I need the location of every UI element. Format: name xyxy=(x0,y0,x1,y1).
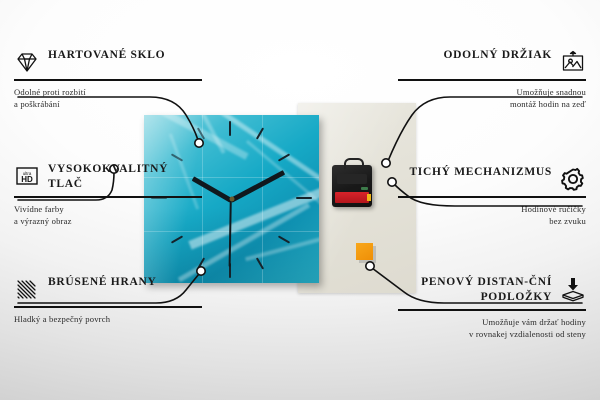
svg-text:HD: HD xyxy=(21,175,33,184)
feature-high-quality-print: ultra HD VYSOKOKVALITNÝ TLAČ Vivídne far… xyxy=(14,162,202,228)
clock-hand-hub xyxy=(229,197,234,202)
feature-description: Odolné proti rozbití a poškrábání xyxy=(14,86,202,111)
feature-description: Umožňuje snadnou montáž hodin na zeď xyxy=(398,86,586,111)
diamond-icon xyxy=(14,49,40,75)
clock-tick xyxy=(296,197,312,199)
feature-polished-edges: BRÚSENÉ HRANY Hladký a bezpečný povrch xyxy=(14,275,202,325)
feature-description: Vivídne farby a výrazný obraz xyxy=(14,203,202,228)
feature-title: VYSOKOKVALITNÝ TLAČ xyxy=(48,162,202,192)
brushed-edge-icon xyxy=(14,276,40,302)
battery xyxy=(335,192,369,203)
feature-title: TICHÝ MECHANIZMUS xyxy=(409,165,552,180)
clock-mechanism xyxy=(332,165,372,207)
panel-seam xyxy=(144,231,319,232)
mechanism-dial xyxy=(361,187,368,190)
feature-description: Hladký a bezpečný povrch xyxy=(14,313,202,325)
panel-seam xyxy=(262,115,263,283)
feature-divider xyxy=(14,79,202,81)
feature-description: Umožňuje vám držať hodiny v rovnakej vzd… xyxy=(398,316,586,341)
foam-spacer-pad xyxy=(356,243,373,260)
feature-description: Hodinové ručičky bez zvuku xyxy=(398,203,586,228)
feature-foam-spacers: PENOVÝ DISTAN-ČNÍ PODLOŽKY Umožňuje vám … xyxy=(398,275,586,341)
feature-durable-hanger: ODOLNÝ DRŽIAK Umožňuje snadnou montáž ho… xyxy=(398,48,586,111)
ultra-hd-icon: ultra HD xyxy=(14,163,40,189)
picture-hanger-icon xyxy=(560,49,586,75)
mechanism-hanger xyxy=(344,158,364,169)
feature-title: HARTOVANÉ SKLO xyxy=(48,48,165,63)
feature-divider xyxy=(398,309,586,311)
feature-divider xyxy=(14,196,202,198)
foam-pad-icon xyxy=(560,276,586,302)
feature-silent-mechanism: TICHÝ MECHANIZMUS Hodinové ručičky bez z… xyxy=(398,165,586,228)
clock-tick xyxy=(229,121,231,136)
feature-title: BRÚSENÉ HRANY xyxy=(48,275,156,290)
gear-icon xyxy=(560,166,586,192)
feature-title: PENOVÝ DISTAN-ČNÍ PODLOŽKY xyxy=(398,275,552,305)
feature-title: ODOLNÝ DRŽIAK xyxy=(444,48,552,63)
feature-divider xyxy=(14,306,202,308)
mechanism-body xyxy=(337,174,367,184)
feature-tempered-glass: HARTOVANÉ SKLO Odolné proti rozbití a po… xyxy=(14,48,202,111)
product-infographic: HARTOVANÉ SKLO Odolné proti rozbití a po… xyxy=(0,0,600,400)
feature-divider xyxy=(398,79,586,81)
feature-divider xyxy=(398,196,586,198)
